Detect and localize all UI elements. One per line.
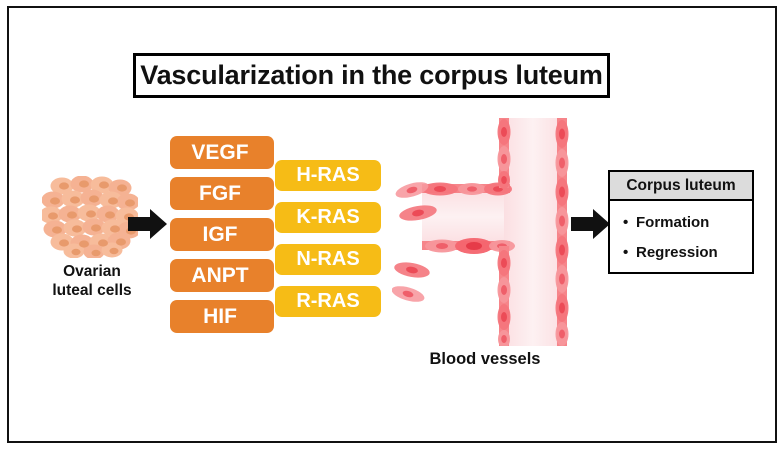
result-item-regression: •Regression <box>623 238 752 268</box>
figure-canvas: Vascularization in the corpus luteum <box>0 0 784 450</box>
factor-label-igf: IGF <box>203 223 238 247</box>
factor-box-anpt[interactable]: ANPT <box>170 259 274 292</box>
ovarian-luteal-cell-cluster-icon <box>42 176 138 258</box>
result-item-formation-label: Formation <box>636 214 709 231</box>
result-box-body: •Formation •Regression <box>610 201 752 268</box>
result-item-formation: •Formation <box>623 208 752 238</box>
factor-label-hif: HIF <box>203 305 237 329</box>
corpus-luteum-result-box: Corpus luteum •Formation •Regression <box>608 170 754 274</box>
ovarian-label-line-1: Ovarian <box>18 262 166 281</box>
factor-box-hif[interactable]: HIF <box>170 300 274 333</box>
factor-box-fgf[interactable]: FGF <box>170 177 274 210</box>
arrow-cells-to-factors-icon <box>128 208 168 245</box>
ovarian-luteal-cells-label: Ovarian luteal cells <box>18 262 166 300</box>
ovarian-label-line-2: luteal cells <box>18 281 166 300</box>
blood-vessel-illustration-icon <box>392 118 572 346</box>
ras-box-r-ras[interactable]: R-RAS <box>275 286 381 317</box>
ras-box-n-ras[interactable]: N-RAS <box>275 244 381 275</box>
blood-vessels-label: Blood vessels <box>390 350 580 369</box>
ras-label-k-ras: K-RAS <box>296 206 359 229</box>
arrow-vessel-to-result-icon <box>571 208 611 245</box>
factor-label-fgf: FGF <box>199 182 241 206</box>
bullet-icon: • <box>623 238 636 268</box>
factor-label-anpt: ANPT <box>191 264 248 288</box>
ras-box-k-ras[interactable]: K-RAS <box>275 202 381 233</box>
factor-box-igf[interactable]: IGF <box>170 218 274 251</box>
factor-label-vegf: VEGF <box>191 141 248 165</box>
page-title: Vascularization in the corpus luteum <box>140 60 602 91</box>
ras-label-n-ras: N-RAS <box>296 248 359 271</box>
ras-label-r-ras: R-RAS <box>296 290 359 313</box>
result-item-regression-label: Regression <box>636 244 718 261</box>
ras-box-h-ras[interactable]: H-RAS <box>275 160 381 191</box>
result-box-header: Corpus luteum <box>610 172 752 201</box>
bullet-icon: • <box>623 208 636 238</box>
factor-box-vegf[interactable]: VEGF <box>170 136 274 169</box>
figure-title-box: Vascularization in the corpus luteum <box>133 53 610 98</box>
ras-label-h-ras: H-RAS <box>296 164 359 187</box>
